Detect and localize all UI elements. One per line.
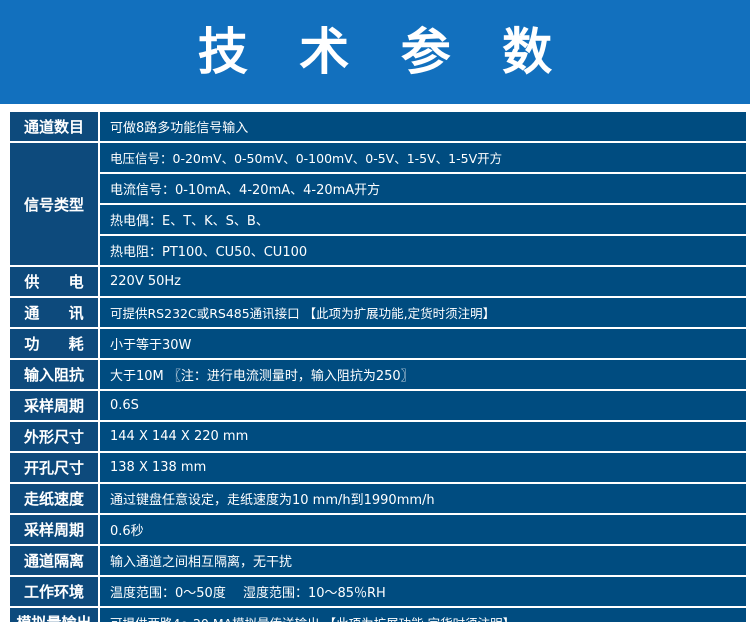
spec-label-cell: 通 讯 bbox=[10, 298, 98, 327]
spec-label-cell: 功 耗 bbox=[10, 329, 98, 358]
table-row: 供 电220V 50Hz bbox=[10, 267, 746, 296]
spec-value-cell: 可提供RS232C或RS485通讯接口 【此项为扩展功能,定货时须注明】 bbox=[100, 298, 746, 327]
spec-label-cell: 输入阻抗 bbox=[10, 360, 98, 389]
table-row: 开孔尺寸138 X 138 mm bbox=[10, 453, 746, 482]
table-row: 采样周期0.6S bbox=[10, 391, 746, 420]
spec-label-cell: 模拟量输出 bbox=[10, 608, 98, 622]
table-row: 信号类型电压信号：0-20mV、0-50mV、0-100mV、0-5V、1-5V… bbox=[10, 143, 746, 172]
table-row: 输入阻抗大于10M 〖注：进行电流测量时，输入阻抗为250〗 bbox=[10, 360, 746, 389]
table-row: 走纸速度通过键盘任意设定，走纸速度为10 mm/h到1990mm/h bbox=[10, 484, 746, 513]
table-row: 通道数目可做8路多功能信号输入 bbox=[10, 112, 746, 141]
spec-value-cell: 144 X 144 X 220 mm bbox=[100, 422, 746, 451]
spec-label-cell: 采样周期 bbox=[10, 515, 98, 544]
spec-value-cell: 电流信号：0-10mA、4-20mA、4-20mA开方 bbox=[100, 174, 746, 203]
spec-value-cell: 通过键盘任意设定，走纸速度为10 mm/h到1990mm/h bbox=[100, 484, 746, 513]
page-banner: 技 术 参 数 bbox=[0, 0, 750, 104]
spec-label-cell: 走纸速度 bbox=[10, 484, 98, 513]
spec-value-cell: 可提供两路4～20 MA模拟量传送输出 【此项为扩展功能,定货时须注明】 bbox=[100, 608, 746, 622]
spec-label-cell: 通道数目 bbox=[10, 112, 98, 141]
table-row: 功 耗小于等于30W bbox=[10, 329, 746, 358]
table-row: 热电偶：E、T、K、S、B、 bbox=[10, 205, 746, 234]
table-row: 工作环境温度范围：0～50度 湿度范围：10～85％RH bbox=[10, 577, 746, 606]
spec-value-cell: 220V 50Hz bbox=[100, 267, 746, 296]
table-row: 采样周期0.6秒 bbox=[10, 515, 746, 544]
spec-label-cell: 采样周期 bbox=[10, 391, 98, 420]
spec-label-cell: 信号类型 bbox=[10, 143, 98, 265]
spec-value-cell: 热电偶：E、T、K、S、B、 bbox=[100, 205, 746, 234]
page-title: 技 术 参 数 bbox=[181, 27, 569, 77]
table-row: 通 讯可提供RS232C或RS485通讯接口 【此项为扩展功能,定货时须注明】 bbox=[10, 298, 746, 327]
table-row: 热电阻：PT100、CU50、CU100 bbox=[10, 236, 746, 265]
spec-value-cell: 可做8路多功能信号输入 bbox=[100, 112, 746, 141]
table-row: 模拟量输出可提供两路4～20 MA模拟量传送输出 【此项为扩展功能,定货时须注明… bbox=[10, 608, 746, 622]
spec-label-cell: 外形尺寸 bbox=[10, 422, 98, 451]
spec-label-cell: 通道隔离 bbox=[10, 546, 98, 575]
table-row: 外形尺寸144 X 144 X 220 mm bbox=[10, 422, 746, 451]
spec-label-cell: 开孔尺寸 bbox=[10, 453, 98, 482]
spec-value-cell: 温度范围：0～50度 湿度范围：10～85％RH bbox=[100, 577, 746, 606]
spec-value-cell: 0.6秒 bbox=[100, 515, 746, 544]
table-row: 电流信号：0-10mA、4-20mA、4-20mA开方 bbox=[10, 174, 746, 203]
spec-value-cell: 热电阻：PT100、CU50、CU100 bbox=[100, 236, 746, 265]
spec-value-cell: 电压信号：0-20mV、0-50mV、0-100mV、0-5V、1-5V、1-5… bbox=[100, 143, 746, 172]
spec-label-cell: 工作环境 bbox=[10, 577, 98, 606]
spec-value-cell: 大于10M 〖注：进行电流测量时，输入阻抗为250〗 bbox=[100, 360, 746, 389]
specification-table: 通道数目可做8路多功能信号输入信号类型电压信号：0-20mV、0-50mV、0-… bbox=[8, 110, 748, 622]
spec-value-cell: 138 X 138 mm bbox=[100, 453, 746, 482]
spec-value-cell: 输入通道之间相互隔离，无干扰 bbox=[100, 546, 746, 575]
table-row: 通道隔离输入通道之间相互隔离，无干扰 bbox=[10, 546, 746, 575]
technical-parameters-page: 技 术 参 数 通道数目可做8路多功能信号输入信号类型电压信号：0-20mV、0… bbox=[0, 0, 750, 622]
spec-value-cell: 0.6S bbox=[100, 391, 746, 420]
spec-value-cell: 小于等于30W bbox=[100, 329, 746, 358]
specification-table-body: 通道数目可做8路多功能信号输入信号类型电压信号：0-20mV、0-50mV、0-… bbox=[10, 112, 746, 622]
spec-label-cell: 供 电 bbox=[10, 267, 98, 296]
